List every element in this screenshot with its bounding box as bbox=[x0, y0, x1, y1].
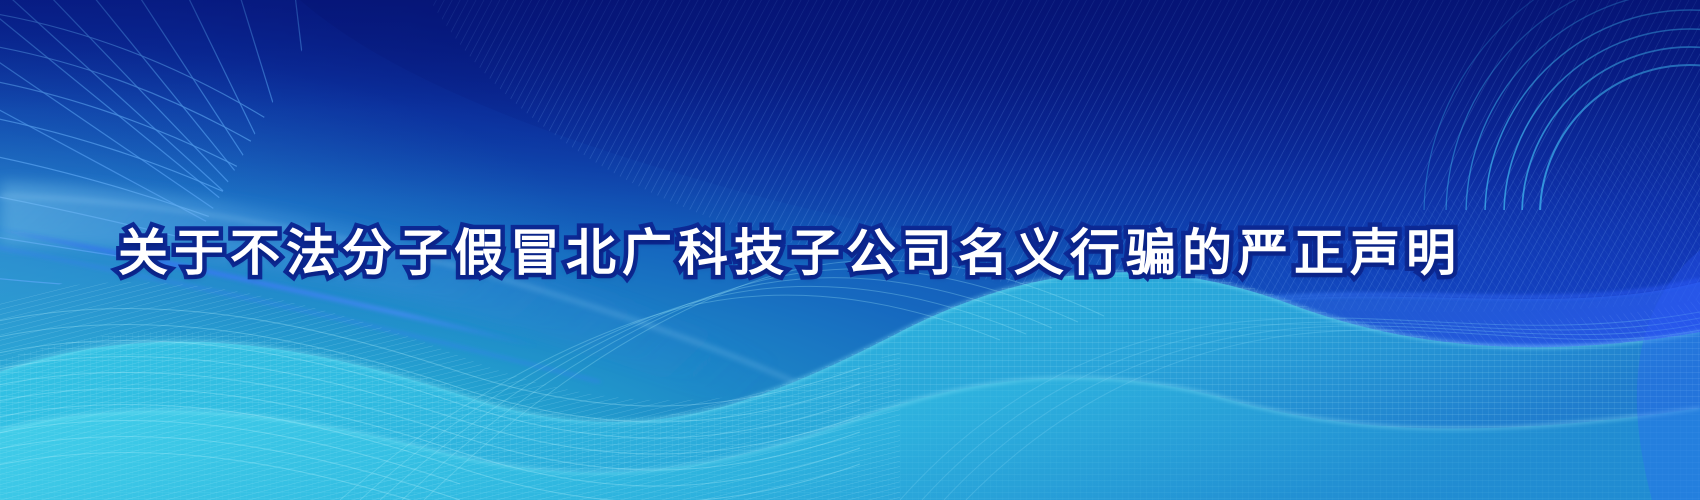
announcement-banner: 关于不法分子假冒北广科技子公司名义行骗的严正声明 bbox=[0, 0, 1700, 500]
bottom-right-ribbons bbox=[700, 280, 1700, 500]
banner-title-container: 关于不法分子假冒北广科技子公司名义行骗的严正声明 bbox=[0, 206, 1580, 300]
bottom-cyan-wave-front bbox=[0, 378, 1700, 500]
bottom-right-loop-strands bbox=[900, 312, 1700, 500]
center-hatch-band-lower bbox=[700, 120, 1700, 500]
page-title: 关于不法分子假冒北广科技子公司名义行骗的严正声明 bbox=[118, 228, 1462, 278]
right-edge-rim bbox=[1637, 250, 1700, 500]
